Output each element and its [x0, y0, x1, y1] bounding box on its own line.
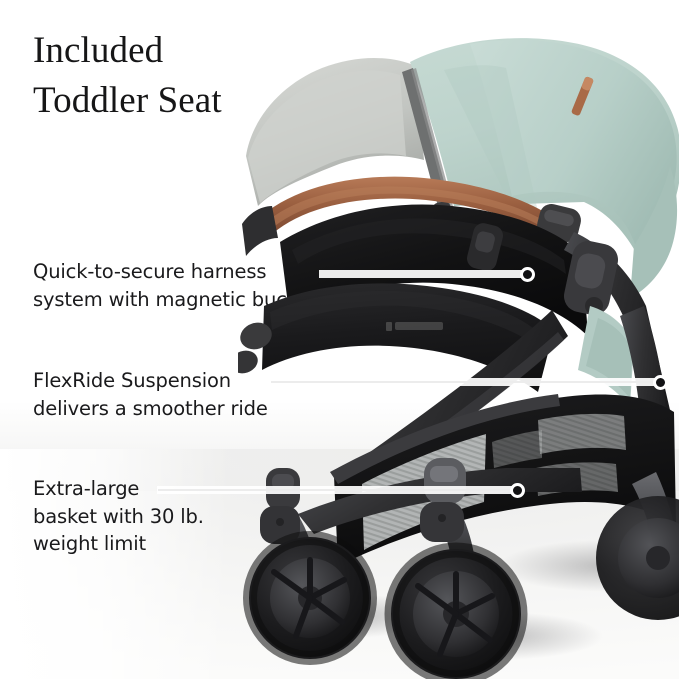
rear-wheel — [596, 496, 679, 620]
callout-basket-line-2: basket with 30 lb. — [33, 503, 204, 531]
dot-marker-basket — [510, 483, 525, 498]
product-infographic: Included Toddler Seat Quick-to-secure ha… — [0, 0, 679, 679]
callout-suspension-line-2: delivers a smoother ride — [33, 395, 268, 423]
leader-line-basket — [158, 489, 520, 491]
leader-line-harness — [320, 273, 530, 275]
dot-marker-suspension — [653, 375, 668, 390]
front-wheel-left — [250, 538, 370, 658]
front-wheel-right — [392, 550, 520, 678]
callout-basket-line-3: weight limit — [33, 530, 204, 558]
callout-suspension: FlexRide Suspension delivers a smoother … — [33, 367, 268, 422]
stroller-illustration — [238, 6, 679, 679]
dot-marker-harness — [520, 267, 535, 282]
callout-suspension-line-1: FlexRide Suspension — [33, 367, 268, 395]
leader-line-suspension — [271, 381, 663, 383]
